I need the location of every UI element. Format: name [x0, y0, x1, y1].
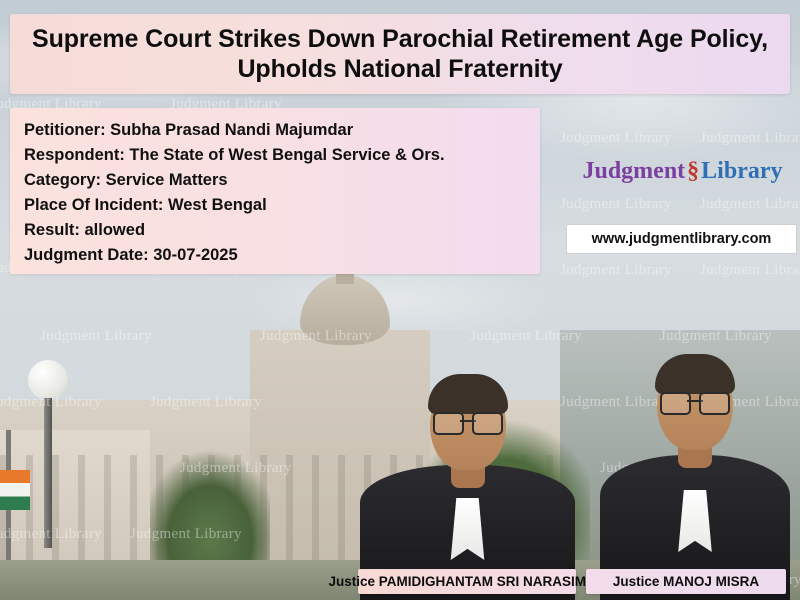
judgment-info-card: Judgment Library Judgment Library Judgme…: [0, 0, 800, 600]
glasses-lens-left: [660, 392, 691, 415]
glasses-lens-right: [472, 412, 503, 435]
judge-portrait-1: [360, 350, 575, 600]
detail-category: Category: Service Matters: [24, 168, 540, 193]
brand-word-judgment: Judgment: [582, 158, 685, 184]
glasses-lens-right: [699, 392, 730, 415]
case-details-panel: Petitioner: Subha Prasad Nandi Majumdar …: [10, 108, 540, 274]
website-url[interactable]: www.judgmentlibrary.com: [566, 224, 797, 254]
glasses-icon: [433, 412, 503, 432]
street-lamp-globe: [28, 360, 68, 400]
judge-hair: [655, 354, 735, 394]
judge-hair: [428, 374, 508, 414]
indian-flag-icon: [0, 470, 30, 510]
page-title: Supreme Court Strikes Down Parochial Ret…: [10, 24, 790, 85]
title-banner: Supreme Court Strikes Down Parochial Ret…: [10, 14, 790, 94]
judge-nameplate-1: Justice PAMIDIGHANTAM SRI NARASIMHA: [358, 569, 576, 594]
street-lamp-pole: [44, 398, 52, 548]
brand-word-library: Library: [701, 158, 782, 184]
detail-place-of-incident: Place Of Incident: West Bengal: [24, 193, 540, 218]
section-symbol-icon: §: [687, 158, 699, 184]
detail-petitioner: Petitioner: Subha Prasad Nandi Majumdar: [24, 118, 540, 143]
judge-nameplate-2: Justice MANOJ MISRA: [586, 569, 786, 594]
glasses-lens-left: [433, 412, 464, 435]
detail-respondent: Respondent: The State of West Bengal Ser…: [24, 143, 540, 168]
judge-portrait-2: [600, 340, 790, 600]
glasses-icon: [660, 392, 730, 412]
brand-logo: Judgment§Library: [575, 158, 790, 185]
detail-result: Result: allowed: [24, 218, 540, 243]
detail-judgment-date: Judgment Date: 30-07-2025: [24, 243, 540, 268]
